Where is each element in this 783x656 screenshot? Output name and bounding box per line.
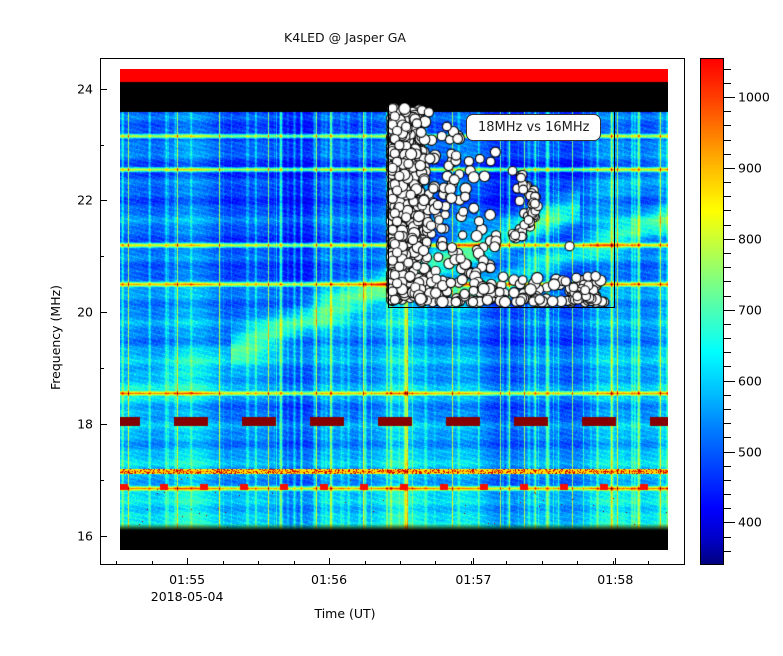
colorbar-minor-tick	[724, 296, 731, 297]
colorbar-minor-tick	[724, 494, 731, 495]
y-tick-mark-20	[100, 312, 107, 313]
colorbar-minor-tick	[724, 395, 731, 396]
y-tick-label-16: 16	[33, 529, 93, 544]
x-minor-tick	[542, 561, 543, 565]
y-axis-label: Frequency (MHz)	[48, 285, 63, 390]
x-minor-tick	[400, 561, 401, 565]
y-tick-label-18: 18	[33, 417, 93, 432]
x-tick-label-01-55: 01:55	[169, 572, 205, 587]
colorbar-label-500: 500	[738, 444, 762, 459]
x-minor-tick	[294, 561, 295, 565]
colorbar-minor-tick	[724, 466, 731, 467]
colorbar-tick-600	[724, 381, 735, 382]
x-tick-label-01-56: 01:56	[311, 572, 347, 587]
colorbar-minor-tick	[724, 140, 731, 141]
colorbar-minor-tick	[724, 253, 731, 254]
colorbar	[700, 58, 724, 565]
y-tick-mark-24	[100, 89, 107, 90]
x-minor-tick	[435, 561, 436, 565]
x-minor-tick	[223, 561, 224, 565]
x-minor-tick	[577, 561, 578, 565]
colorbar-minor-tick	[724, 196, 731, 197]
y-tick-label-20: 20	[33, 305, 93, 320]
colorbar-minor-tick	[724, 352, 731, 353]
x-minor-tick	[506, 561, 507, 565]
x-minor-tick	[116, 561, 117, 565]
scatter-overlay-canvas	[120, 69, 668, 550]
page-title: K4LED @ Jasper GA	[0, 30, 690, 45]
y-tick-label-22: 22	[33, 193, 93, 208]
colorbar-minor-tick	[724, 508, 731, 509]
x-minor-tick	[152, 561, 153, 565]
colorbar-minor-tick	[724, 210, 731, 211]
colorbar-minor-tick	[724, 366, 731, 367]
x-tick-mark-0	[187, 558, 188, 565]
colorbar-minor-tick	[724, 281, 731, 282]
x-tick-label-01-58: 01:58	[597, 572, 633, 587]
colorbar-minor-tick	[724, 225, 731, 226]
colorbar-minor-tick	[724, 182, 731, 183]
colorbar-label-700: 700	[738, 302, 762, 317]
y-minor-tick-19	[100, 368, 104, 369]
y-minor-tick-21	[100, 256, 104, 257]
colorbar-minor-tick	[724, 338, 731, 339]
colorbar-minor-tick	[724, 423, 731, 424]
colorbar-minor-tick	[724, 437, 731, 438]
colorbar-minor-tick	[724, 111, 731, 112]
y-tick-mark-22	[100, 200, 107, 201]
y-tick-mark-18	[100, 424, 107, 425]
colorbar-label-1000: 1000	[738, 90, 770, 105]
colorbar-minor-tick	[724, 69, 731, 70]
colorbar-tick-1000	[724, 97, 735, 98]
x-minor-tick	[648, 561, 649, 565]
x-axis-label: Time (UT)	[0, 606, 690, 621]
annotation-label: 18MHz vs 16MHz	[466, 114, 601, 141]
colorbar-minor-tick	[724, 83, 731, 84]
colorbar-tick-900	[724, 168, 735, 169]
colorbar-minor-tick	[724, 267, 731, 268]
spectrogram-image	[120, 69, 668, 550]
x-minor-tick	[684, 561, 685, 565]
colorbar-label-400: 400	[738, 515, 762, 530]
colorbar-tick-500	[724, 452, 735, 453]
colorbar-minor-tick	[724, 551, 731, 552]
colorbar-label-600: 600	[738, 373, 762, 388]
colorbar-minor-tick	[724, 154, 731, 155]
x-tick-mark-3	[615, 558, 616, 565]
y-tick-mark-16	[100, 536, 107, 537]
x-minor-tick	[471, 561, 472, 565]
y-minor-tick-17	[100, 480, 104, 481]
x-tick-mark-1	[329, 558, 330, 565]
x-tick-label-01-57: 01:57	[455, 572, 491, 587]
colorbar-tick-800	[724, 239, 735, 240]
colorbar-tick-700	[724, 310, 735, 311]
colorbar-label-800: 800	[738, 231, 762, 246]
colorbar-minor-tick	[724, 537, 731, 538]
colorbar-tick-400	[724, 522, 735, 523]
x-axis-date: 2018-05-04	[151, 589, 224, 604]
colorbar-minor-tick	[724, 324, 731, 325]
x-minor-tick	[613, 561, 614, 565]
colorbar-minor-tick	[724, 125, 731, 126]
colorbar-minor-tick	[724, 409, 731, 410]
y-tick-label-24: 24	[33, 81, 93, 96]
colorbar-label-900: 900	[738, 160, 762, 175]
x-tick-mark-2	[473, 558, 474, 565]
x-minor-tick	[365, 561, 366, 565]
x-minor-tick	[258, 561, 259, 565]
colorbar-minor-tick	[724, 480, 731, 481]
y-minor-tick-23	[100, 145, 104, 146]
